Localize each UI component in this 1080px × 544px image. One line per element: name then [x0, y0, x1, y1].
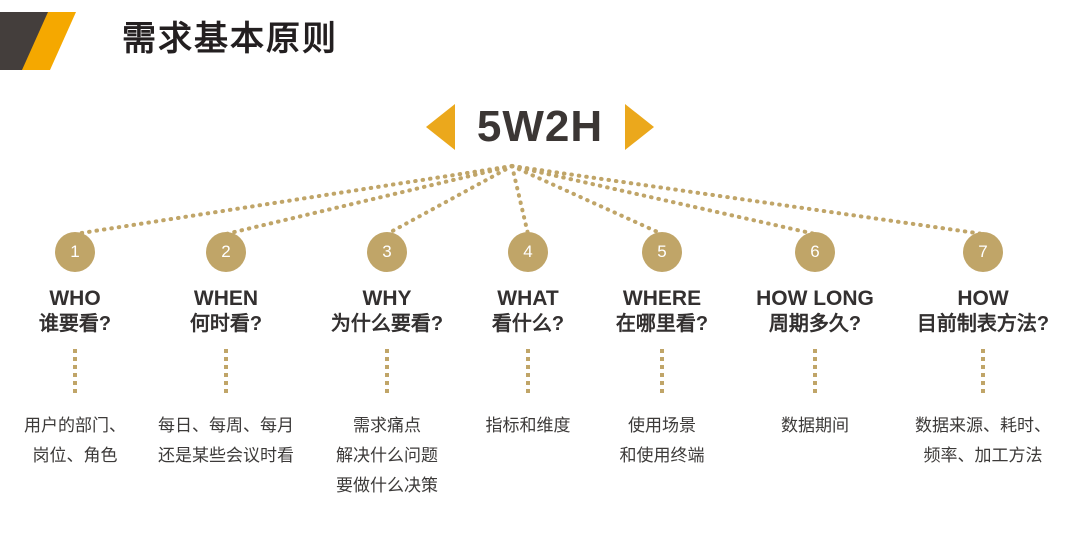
dark-parallelogram-icon [0, 12, 62, 70]
vertical-dotted-divider [73, 349, 77, 395]
vertical-dotted-divider [981, 349, 985, 395]
connector-line [512, 166, 815, 234]
column-description: 数据来源、耗时、频率、加工方法 [873, 411, 1080, 471]
connector-line [512, 166, 983, 234]
description-line: 要做什么决策 [277, 471, 497, 501]
step-badge: 6 [795, 232, 835, 272]
vertical-dotted-divider [813, 349, 817, 395]
description-line: 和使用终端 [552, 441, 772, 471]
vertical-dotted-divider [526, 349, 530, 395]
description-line: 频率、加工方法 [873, 441, 1080, 471]
step-badge: 5 [642, 232, 682, 272]
slide-root: 需求基本原则 5W2H 1WHO谁要看?用户的部门、岗位、角色2WHEN何时看?… [0, 0, 1080, 544]
connector-line [387, 166, 512, 234]
column-how: 7HOW目前制表方法?数据来源、耗时、频率、加工方法 [873, 232, 1080, 471]
step-badge: 4 [508, 232, 548, 272]
vertical-dotted-divider [660, 349, 664, 395]
column-title-en: HOW [873, 286, 1080, 311]
left-triangle-icon [426, 104, 455, 150]
yellow-parallelogram-icon [22, 12, 76, 70]
connector-line [75, 166, 512, 234]
page-title: 需求基本原则 [122, 14, 338, 64]
right-triangle-icon [625, 104, 654, 150]
center-title: 5W2H [477, 102, 603, 152]
center-label-group: 5W2H [0, 96, 1080, 158]
step-badge: 1 [55, 232, 95, 272]
description-line: 解决什么问题 [277, 441, 497, 471]
step-badge: 3 [367, 232, 407, 272]
step-badge: 2 [206, 232, 246, 272]
connector-line [512, 166, 662, 234]
connector-line [512, 166, 528, 234]
step-badge: 7 [963, 232, 1003, 272]
column-title-cn: 目前制表方法? [873, 312, 1080, 337]
vertical-dotted-divider [224, 349, 228, 395]
description-line: 数据来源、耗时、 [873, 411, 1080, 441]
vertical-dotted-divider [385, 349, 389, 395]
connector-line [226, 166, 512, 234]
